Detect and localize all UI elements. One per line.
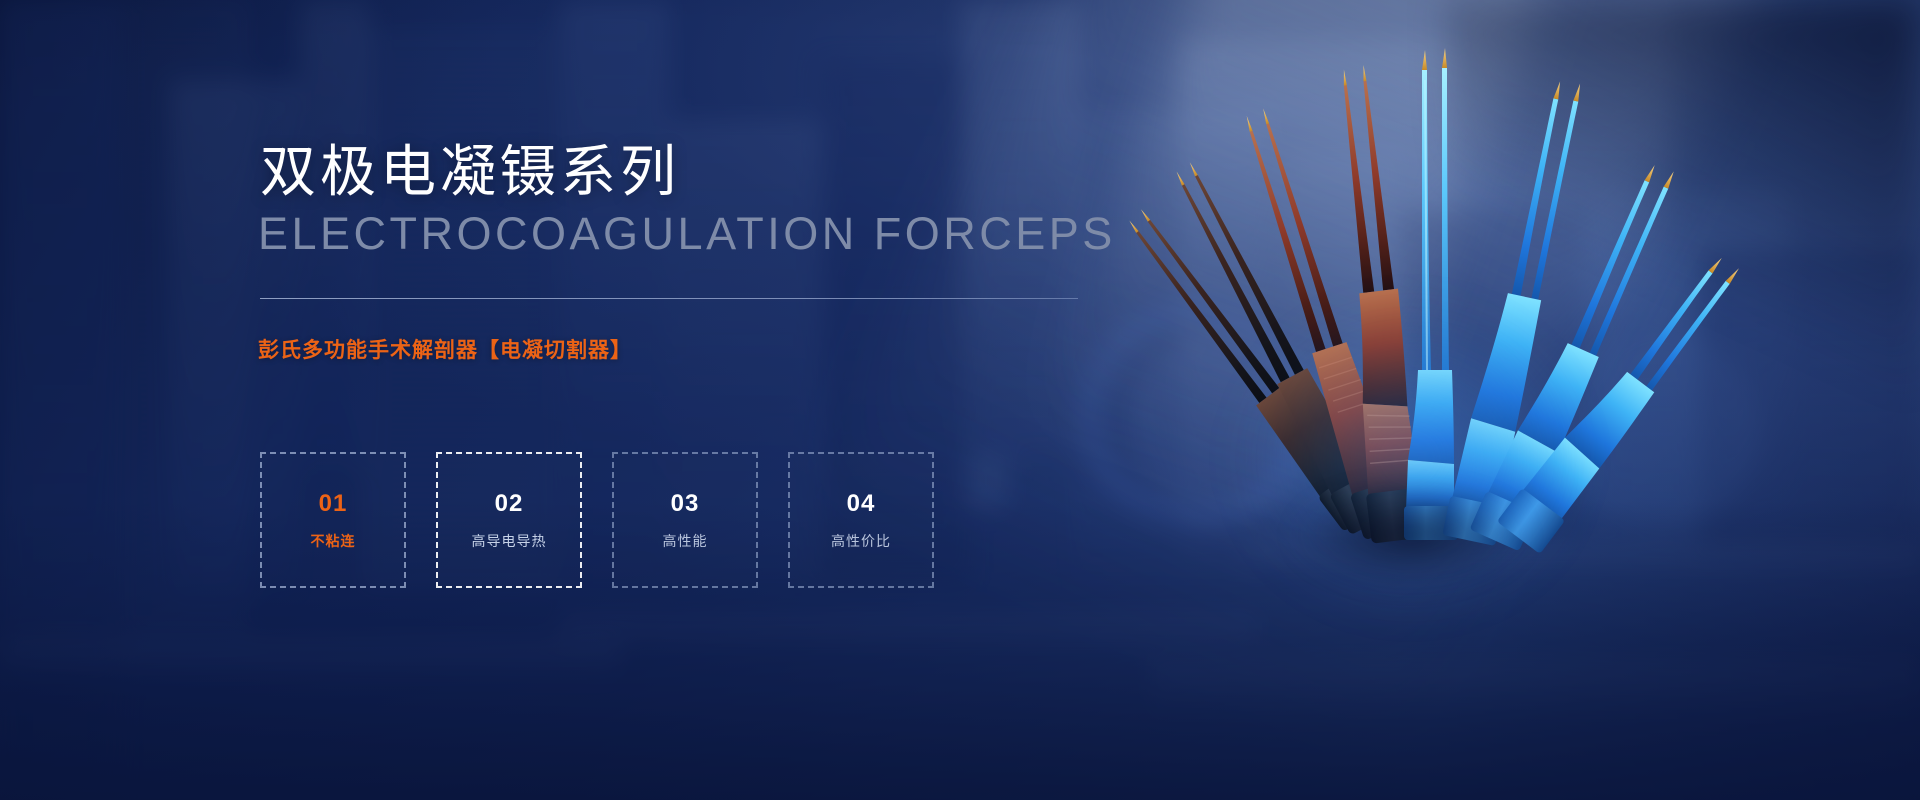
product-banner: 双极电凝镊系列 ELECTROCOAGULATION FORCEPS 彭氏多功能… — [0, 0, 1920, 800]
feature-card-01[interactable]: 01 不粘连 — [260, 452, 406, 588]
page-title-en: ELECTROCOAGULATION FORCEPS — [258, 211, 1116, 256]
feature-list: 01 不粘连 02 高导电导热 03 高性能 04 高性价比 — [260, 452, 960, 588]
title-divider — [260, 298, 1078, 299]
feature-number: 01 — [319, 492, 348, 516]
feature-label: 高性价比 — [831, 534, 891, 548]
feature-number: 03 — [671, 492, 700, 516]
feature-label: 不粘连 — [311, 534, 356, 548]
product-image — [1050, 40, 1750, 600]
banner-text-column: 双极电凝镊系列 ELECTROCOAGULATION FORCEPS 彭氏多功能… — [0, 0, 1100, 800]
feature-card-03[interactable]: 03 高性能 — [612, 452, 758, 588]
feature-number: 04 — [847, 492, 876, 516]
feature-label: 高性能 — [663, 534, 708, 548]
page-subtitle: 彭氏多功能手术解剖器【电凝切割器】 — [258, 334, 632, 364]
feature-card-02[interactable]: 02 高导电导热 — [436, 452, 582, 588]
feature-label: 高导电导热 — [472, 534, 547, 548]
feature-number: 02 — [495, 492, 524, 516]
page-title-cn: 双极电凝镊系列 — [260, 144, 680, 200]
product-base-shadow — [1250, 470, 1570, 600]
feature-card-04[interactable]: 04 高性价比 — [788, 452, 934, 588]
